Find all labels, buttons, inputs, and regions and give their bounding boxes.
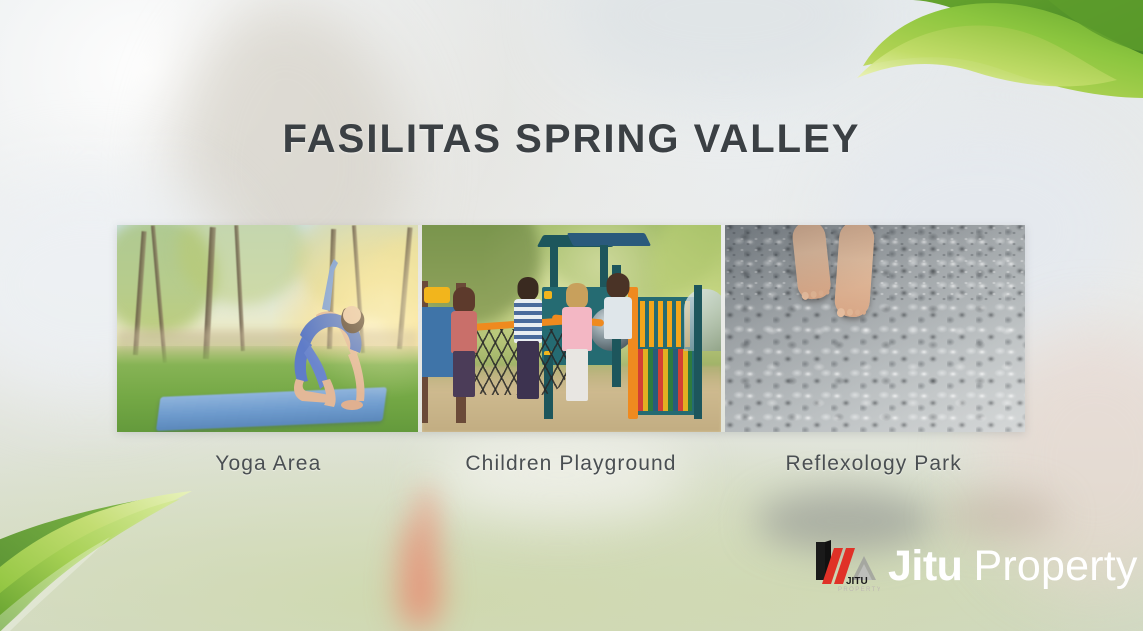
children-playground-photo[interactable] <box>422 225 721 432</box>
brand-name-bold: Jitu <box>888 545 962 588</box>
caption-children-playground: Children Playground <box>420 452 723 494</box>
brand-logo[interactable]: JITU PROPERTY Jitu Property <box>812 537 1138 595</box>
brand-name-light: Property <box>973 545 1137 588</box>
playground-roof-right <box>567 233 651 246</box>
playground-bar-grid <box>640 301 690 347</box>
playground-abacus-panel <box>638 349 692 411</box>
background-blob-shrub-2 <box>940 492 1060 540</box>
child-figure-2 <box>508 277 548 399</box>
caption-yoga-area: Yoga Area <box>117 452 420 494</box>
pebble-shading <box>725 225 1025 432</box>
reflexology-park-photo[interactable] <box>725 225 1025 432</box>
yoga-area-photo[interactable] <box>117 225 418 432</box>
jitu-property-logo-mark: JITU PROPERTY <box>812 540 880 592</box>
logo-mark-label: JITU <box>846 576 868 587</box>
caption-reflexology-park: Reflexology Park <box>722 452 1025 494</box>
facility-gallery <box>117 225 1025 432</box>
logo-mark-sublabel: PROPERTY <box>838 587 880 592</box>
child-figure-4 <box>598 273 638 345</box>
playground-dome-window <box>684 289 721 351</box>
page-title: FASILITAS SPRING VALLEY <box>0 117 1143 162</box>
yoga-sunflare <box>117 225 418 432</box>
playground-right-post <box>694 285 702 419</box>
child-figure-1 <box>444 287 484 397</box>
presentation-slide: FASILITAS SPRING VALLEY <box>0 0 1143 631</box>
background-blob-top <box>560 0 890 100</box>
gallery-captions: Yoga Area Children Playground Reflexolog… <box>117 452 1025 494</box>
background-blob-cone <box>400 520 440 630</box>
child-figure-3 <box>556 283 598 401</box>
brand-wordmark: Jitu Property <box>888 545 1138 588</box>
